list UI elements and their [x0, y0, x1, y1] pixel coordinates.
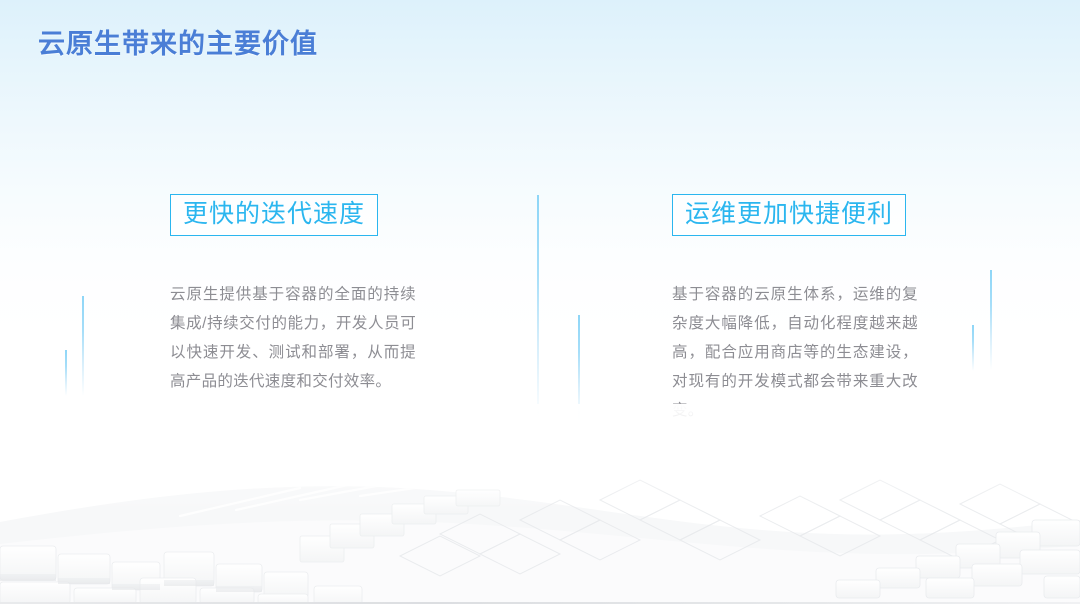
- value-column-easier-ops: 运维更加快捷便利 基于容器的云原生体系，运维的复杂度大幅降低，自动化程度越来越高…: [672, 194, 924, 425]
- content-columns: 更快的迭代速度 云原生提供基于容器的全面的持续集成/持续交付的能力，开发人员可以…: [0, 0, 1080, 604]
- slide-canvas: 云原生带来的主要价值 更快的迭代速度 云原生提供基于容器的全面的持续集成/持续交…: [0, 0, 1080, 604]
- column-heading-easier-ops: 运维更加快捷便利: [672, 194, 906, 236]
- column-body-faster-iteration: 云原生提供基于容器的全面的持续集成/持续交付的能力，开发人员可以快速开发、测试和…: [170, 280, 416, 396]
- value-column-faster-iteration: 更快的迭代速度 云原生提供基于容器的全面的持续集成/持续交付的能力，开发人员可以…: [170, 194, 420, 396]
- column-body-easier-ops: 基于容器的云原生体系，运维的复杂度大幅降低，自动化程度越来越高，配合应用商店等的…: [672, 280, 918, 425]
- column-heading-faster-iteration: 更快的迭代速度: [170, 194, 378, 236]
